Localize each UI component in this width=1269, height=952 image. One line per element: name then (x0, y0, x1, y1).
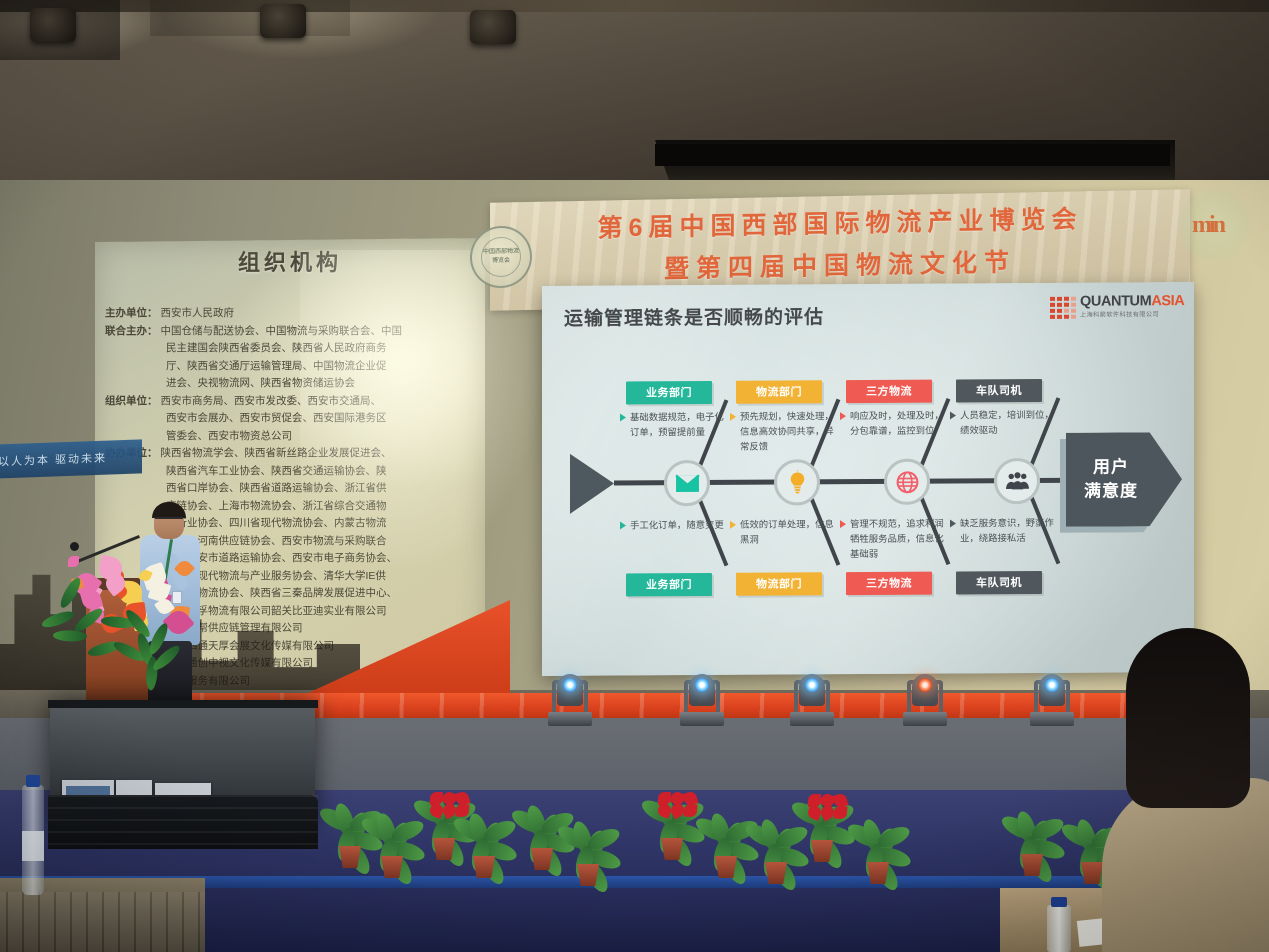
cause-upper: 人员稳定，培训到位，绩效驱动 (950, 407, 1062, 438)
globe-icon (895, 469, 920, 494)
projection-row-value: 应链与物流协会、陕西省三秦品牌发展促进中心、 (166, 585, 397, 603)
projection-text-row: 西安市会展办、西安市贸促会、西安国际港务区 (105, 410, 477, 428)
projection-text-row: 西省口岸协会、陕西省道路运输协会、浙江省供 (105, 480, 477, 498)
bottle-cap (1051, 897, 1067, 907)
cause-text: 低效的订单处理，信息黑洞 (740, 516, 842, 547)
ceiling-duct-shadow (655, 144, 1170, 166)
projection-text-row: 管委会、西安市物资总公司 (105, 428, 477, 446)
light-lens-icon (805, 678, 819, 692)
moving-head-stage-light (680, 664, 724, 726)
projection-row-value: 西省口岸协会、陕西省道路运输协会、浙江省供 (166, 480, 387, 498)
category-label-bottom[interactable]: 三方物流 (846, 572, 932, 596)
light-lens-icon (918, 678, 932, 692)
projection-row-value: 民主建国会陕西省委员会、陕西省人民政府商务 (166, 340, 387, 358)
bullet-triangle-icon (840, 412, 846, 420)
light-head (912, 674, 938, 706)
audience-member (1108, 628, 1269, 952)
bottle-label (22, 831, 44, 861)
bullet-triangle-icon (950, 411, 956, 419)
projection-row-label: 联合主办： (105, 323, 158, 341)
ceiling-spotlight-icon (260, 4, 306, 38)
projection-row-value: 厅、陕西省交通厅运输管理局、中国物流企业促 (166, 358, 387, 376)
corner-logo-mark: min (1192, 212, 1238, 238)
cause-text: 缺乏服务意识，野蛮作业，绕路接私活 (960, 515, 1062, 546)
envelope-icon (675, 471, 700, 496)
corner-round-logo: min (1178, 188, 1252, 262)
effect-line-2: 满意度 (1084, 479, 1138, 503)
logo-wordmark: QUANTUMASIA 上海科箭软件科技有限公司 (1080, 294, 1184, 318)
projection-text-row: 厅、陕西省交通厅运输管理局、中国物流企业促 (105, 358, 477, 376)
cause-text: 管理不规范，追求利润牺牲服务品质，信息化基础弱 (850, 515, 952, 561)
projection-row-value: 西安市商务局、西安市发改委、西安市交通局、 (161, 393, 382, 411)
water-bottle (1047, 905, 1071, 952)
bullet-triangle-icon (620, 413, 626, 421)
projection-row-value: 会、西安市道路运输协会、西安市电子商务协会、 (166, 550, 397, 568)
projection-text-row: 协办单位：陕西省物流学会、陕西省新丝路企业发展促进会、 (105, 445, 477, 463)
banner-line-2: 暨第四届中国物流文化节 (490, 239, 1190, 288)
cause-upper: 预先规划，快速处理，信息高效协同共享，异常反馈 (730, 408, 842, 454)
light-base (680, 712, 724, 726)
projection-text-row: 组织单位：西安市商务局、西安市发改委、西安市交通局、 (105, 393, 477, 411)
node-envelope[interactable] (664, 460, 710, 506)
potted-plant (846, 806, 910, 884)
logo-dot-grid-icon (1050, 297, 1076, 319)
light-lens-icon (1045, 678, 1059, 692)
banner-line-1: 第6届中国西部国际物流产业博览会 (490, 197, 1190, 246)
cause-text: 预先规划，快速处理，信息高效协同共享，异常反馈 (740, 408, 842, 454)
projection-row-indent (105, 375, 163, 393)
cause-lower: 缺乏服务意识，野蛮作业，绕路接私活 (950, 515, 1062, 546)
projection-text-row: 陕西省汽车工业协会、陕西省交通运输协会、陕 (105, 463, 477, 481)
potted-plant (790, 784, 854, 862)
logo-word-accent: ASIA (1151, 293, 1184, 309)
moving-head-stage-light (790, 664, 834, 726)
flower-bloom (68, 556, 79, 567)
glasses-icon (155, 517, 183, 523)
speaker-hair (152, 502, 186, 518)
light-head (557, 674, 583, 706)
light-base (790, 712, 834, 726)
category-label-top[interactable]: 业务部门 (626, 381, 712, 405)
cause-text: 响应及时，处理及时，分包靠谱，监控到位 (850, 407, 952, 438)
spine-head-arrow-icon (570, 454, 614, 514)
projection-text-row: 民主建国会陕西省委员会、陕西省人民政府商务 (105, 340, 477, 358)
potted-plant (452, 800, 516, 878)
moving-head-stage-light (1030, 664, 1074, 726)
projection-text-row: 主办单位：西安市人民政府 (105, 305, 477, 323)
bullet-triangle-icon (730, 521, 736, 529)
quantumasia-logo: QUANTUMASIA 上海科箭软件科技有限公司 (1050, 294, 1176, 327)
projection-text-row: 联合主办：中国仓储与配送协会、中国物流与采购联合会、中国 (105, 323, 477, 341)
ceiling-spotlight-icon (470, 10, 516, 44)
effect-line-1: 用户 (1093, 455, 1129, 479)
audience-hair (1126, 628, 1250, 808)
light-base (903, 712, 947, 726)
projection-row-value: 陕西省汽车工业协会、陕西省交通运输协会、陕 (166, 463, 387, 481)
projection-row-label: 组织单位： (105, 393, 158, 411)
fishbone-diagram: 用户 满意度 业务部门业务部门基础数据规范，电子化订单，预留提前量手工化订单，随… (542, 282, 1194, 676)
potted-plant (556, 808, 620, 886)
ceiling-spotlight-icon (30, 8, 76, 42)
expo-seal-inner: 中国西部物流博览会 (481, 237, 521, 278)
category-label-top[interactable]: 车队司机 (956, 379, 1042, 403)
slide-title: 运输管理链条是否顺畅的评估 (564, 302, 824, 331)
logo-word-main: QUANTUM (1080, 293, 1151, 309)
lightbulb-icon (785, 470, 810, 495)
water-bottle (22, 785, 44, 895)
category-label-bottom[interactable]: 业务部门 (626, 573, 712, 597)
stacked-chairs (48, 795, 318, 849)
podium-flower-arrangement (60, 550, 190, 670)
cause-text: 人员稳定，培训到位，绩效驱动 (960, 407, 1062, 438)
light-head (1039, 674, 1065, 706)
projection-row-value: 进会、央视物流网、陕西省物资储运协会 (166, 375, 355, 393)
cause-lower: 管理不规范，追求利润牺牲服务品质，信息化基础弱 (840, 515, 952, 561)
projection-row-indent (105, 340, 163, 358)
light-lens-icon (563, 678, 577, 692)
projection-text-row: 进会、央视物流网、陕西省物资储运协会 (105, 375, 477, 393)
projection-row-value: 管委会、西安市物资总公司 (166, 428, 292, 446)
people-group-icon (1005, 469, 1030, 494)
projection-row-indent (105, 480, 163, 498)
projection-row-label: 主办单位： (105, 305, 158, 323)
category-label-bottom[interactable]: 物流部门 (736, 572, 822, 596)
bottle-cap (26, 775, 40, 787)
bullet-triangle-icon (620, 521, 626, 529)
bullet-triangle-icon (950, 519, 956, 527)
node-globe[interactable] (884, 459, 930, 505)
moving-head-stage-light (548, 664, 592, 726)
effect-callout: 用户 满意度 (1060, 432, 1180, 531)
cause-lower: 手工化订单，随意变更 (620, 517, 732, 533)
bullet-triangle-icon (730, 413, 736, 421)
cause-text: 基础数据规范，电子化订单，预留提前量 (630, 409, 732, 440)
light-lens-icon (695, 678, 709, 692)
bullet-triangle-icon (840, 520, 846, 528)
projection-row-value: 中国仓储与配送协会、中国物流与采购联合会、中国 (161, 323, 403, 341)
effect-callout-body: 用户 满意度 (1066, 432, 1182, 527)
projection-row-value: 西安市人民政府 (161, 305, 235, 323)
conference-photo-scene: 组织机构 主办单位：西安市人民政府联合主办：中国仓储与配送协会、中国物流与采购联… (0, 0, 1269, 952)
cause-lower: 低效的订单处理，信息黑洞 (730, 516, 842, 547)
cause-upper: 基础数据规范，电子化订单，预留提前量 (620, 409, 732, 440)
wall-slogan-sign: 以人为本 驱动未来 (0, 439, 142, 478)
light-head (799, 674, 825, 706)
category-label-top[interactable]: 三方物流 (846, 380, 932, 404)
projection-row-value: 陕西省物流学会、陕西省新丝路企业发展促进会、 (161, 445, 392, 463)
light-head (689, 674, 715, 706)
potted-plant (1000, 798, 1064, 876)
light-base (1030, 712, 1074, 726)
left-projection-title: 组织机构 (95, 245, 485, 277)
projection-row-indent (105, 358, 163, 376)
light-base (548, 712, 592, 726)
moving-head-stage-light (903, 664, 947, 726)
cause-text: 手工化订单，随意变更 (630, 517, 724, 533)
foreground-case-lid (48, 700, 318, 708)
ceiling-panel (150, 0, 350, 36)
logo-subtitle: 上海科箭软件科技有限公司 (1080, 312, 1184, 319)
node-lightbulb[interactable] (774, 459, 820, 505)
category-label-top[interactable]: 物流部门 (736, 380, 822, 404)
cause-upper: 响应及时，处理及时，分包靠谱，监控到位 (840, 407, 952, 438)
category-label-bottom[interactable]: 车队司机 (956, 571, 1042, 595)
projection-row-value: 西安市会展办、西安市贸促会、西安国际港务区 (166, 410, 387, 428)
presentation-slide: 运输管理链条是否顺畅的评估 QUANTUMASIA 上海科箭软件科技有限公司 (542, 282, 1194, 676)
projection-row-indent (105, 410, 163, 428)
node-people-group[interactable] (994, 458, 1040, 504)
